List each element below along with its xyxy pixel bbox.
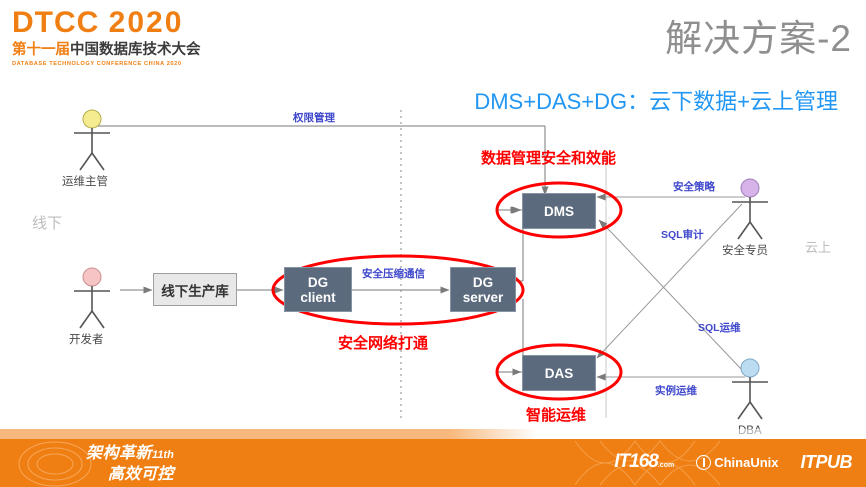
diagram-connectors <box>0 100 866 430</box>
box-dms[interactable]: DMS <box>522 193 596 229</box>
annotation-smart-ops: 智能运维 <box>526 410 586 422</box>
banner-slogan-line2: 高效可控 <box>86 465 174 484</box>
banner-partner-logos: IT168.com ChinaUnix ITPUB <box>614 451 852 473</box>
it168-logo-domain: .com <box>658 462 674 469</box>
it168-logo[interactable]: IT168.com <box>614 451 674 473</box>
logo-wordmark: DTCC 2020 <box>12 6 212 40</box>
banner-slogan: 架构革新11th 高效可控 <box>86 444 174 484</box>
annotation-secure-network: 安全网络打通 <box>338 338 428 350</box>
logo-edition-text: 第十一届 <box>12 42 70 58</box>
chinaunix-mark-icon <box>696 455 711 470</box>
actor-ops-supervisor <box>74 110 110 170</box>
logo-english-tagline: DATABASE TECHNOLOGY CONFERENCE CHINA 202… <box>12 61 212 67</box>
logo-year-text: 2020 <box>109 6 184 39</box>
box-dg-client[interactable]: DG client <box>284 267 352 312</box>
actor-label-ops-supervisor: 运维主管 <box>62 176 108 188</box>
banner-slogan-ordinal: 11th <box>152 449 174 461</box>
edge-label-security-policy: 安全策略 <box>673 181 715 193</box>
logo-dtcc-text: DTCC <box>12 6 99 39</box>
edge-label-secure-compressed-comm: 安全压缩通信 <box>362 268 425 280</box>
edge-label-sql-ops: SQL运维 <box>698 322 741 334</box>
chinaunix-logo-text: ChinaUnix <box>714 455 778 470</box>
box-das[interactable]: DAS <box>522 355 596 391</box>
edge-label-permission-management: 权限管理 <box>293 112 335 124</box>
box-label-dg-client-line2: client <box>300 290 335 305</box>
box-label-offline-production-db: 线下生产库 <box>161 280 229 300</box>
box-label-dg-server-line1: DG <box>473 275 493 290</box>
edge-label-sql-audit: SQL审计 <box>661 229 704 241</box>
actor-label-security-specialist: 安全专员 <box>722 245 768 257</box>
slide-root: DTCC 2020 第十一届中国数据库技术大会 DATABASE TECHNOL… <box>0 0 866 487</box>
actor-label-developer: 开发者 <box>69 334 104 346</box>
itpub-logo[interactable]: ITPUB <box>801 452 853 473</box>
actor-dba <box>732 359 768 419</box>
it168-logo-text: IT168 <box>614 451 658 472</box>
box-label-dms: DMS <box>544 204 574 219</box>
itpub-logo-text: ITPUB <box>801 452 853 472</box>
zone-label-cloud: 云上 <box>805 242 831 254</box>
actor-developer <box>74 268 110 328</box>
bottom-banner: 架构革新11th 高效可控 IT168.com ChinaUnix ITPUB <box>0 439 866 487</box>
box-dg-server[interactable]: DG server <box>450 267 516 312</box>
dtcc-logo: DTCC 2020 第十一届中国数据库技术大会 DATABASE TECHNOL… <box>12 6 212 67</box>
edge-label-instance-ops: 实例运维 <box>655 385 697 397</box>
zone-label-offline: 线下 <box>32 218 62 230</box>
logo-conference-text: 中国数据库技术大会 <box>70 42 201 58</box>
box-label-das: DAS <box>545 366 574 381</box>
architecture-diagram: 运维主管 开发者 安全专员 DBA 线下 云上 线下生产库 DG client … <box>0 100 866 430</box>
box-label-dg-server-line2: server <box>463 290 504 305</box>
banner-top-fade <box>0 429 866 439</box>
banner-slogan-line1: 架构革新 <box>86 445 152 462</box>
box-offline-production-db[interactable]: 线下生产库 <box>153 273 237 306</box>
logo-subtitle: 第十一届中国数据库技术大会 <box>12 41 212 59</box>
annotation-data-management-security: 数据管理安全和效能 <box>481 153 616 165</box>
chinaunix-logo[interactable]: ChinaUnix <box>696 455 778 470</box>
box-label-dg-client-line1: DG <box>308 275 328 290</box>
page-title: 解决方案-2 <box>665 8 852 62</box>
